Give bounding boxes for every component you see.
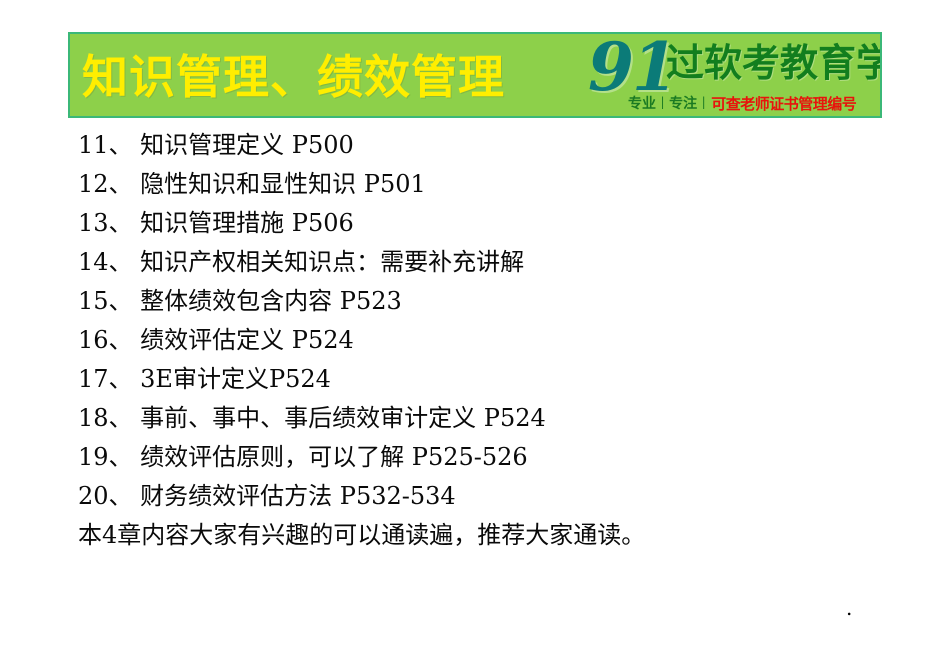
- list-item: 20、 财务绩效评估方法 P532-534: [78, 477, 898, 516]
- list-item: 17、 3E审计定义P524: [78, 360, 898, 399]
- tagline-item-certificate: 可查老师证书管理编号: [706, 93, 856, 114]
- slide-header-banner: 知识管理、绩效管理 91 过软考教育学院 专业 | 专注 | 可查老师证书管理编…: [68, 32, 882, 118]
- list-item: 11、 知识管理定义 P500: [78, 126, 898, 165]
- page-title: 知识管理、绩效管理: [82, 36, 505, 118]
- list-item: 15、 整体绩效包含内容 P523: [78, 282, 898, 321]
- brand-logo: 91 过软考教育学院 专业 | 专注 | 可查老师证书管理编号: [580, 34, 880, 118]
- brand-tagline: 专业 | 专注 | 可查老师证书管理编号: [624, 92, 856, 114]
- slide-canvas: 知识管理、绩效管理 91 过软考教育学院 专业 | 专注 | 可查老师证书管理编…: [0, 0, 950, 672]
- footer-dot-mark: .: [846, 598, 852, 618]
- content-list: 11、 知识管理定义 P500 12、 隐性知识和显性知识 P501 13、 知…: [78, 126, 898, 555]
- list-item: 16、 绩效评估定义 P524: [78, 321, 898, 360]
- brand-name: 过软考教育学院: [666, 40, 882, 86]
- list-item: 13、 知识管理措施 P506: [78, 204, 898, 243]
- list-item: 19、 绩效评估原则，可以了解 P525-526: [78, 438, 898, 477]
- closing-note: 本4章内容大家有兴趣的可以通读遍，推荐大家通读。: [78, 516, 898, 555]
- list-item: 18、 事前、事中、事后绩效审计定义 P524: [78, 399, 898, 438]
- tagline-item-professional: 专业: [624, 93, 660, 113]
- tagline-item-focused: 专注: [665, 93, 701, 113]
- list-item: 14、 知识产权相关知识点：需要补充讲解: [78, 243, 898, 282]
- list-item: 12、 隐性知识和显性知识 P501: [78, 165, 898, 204]
